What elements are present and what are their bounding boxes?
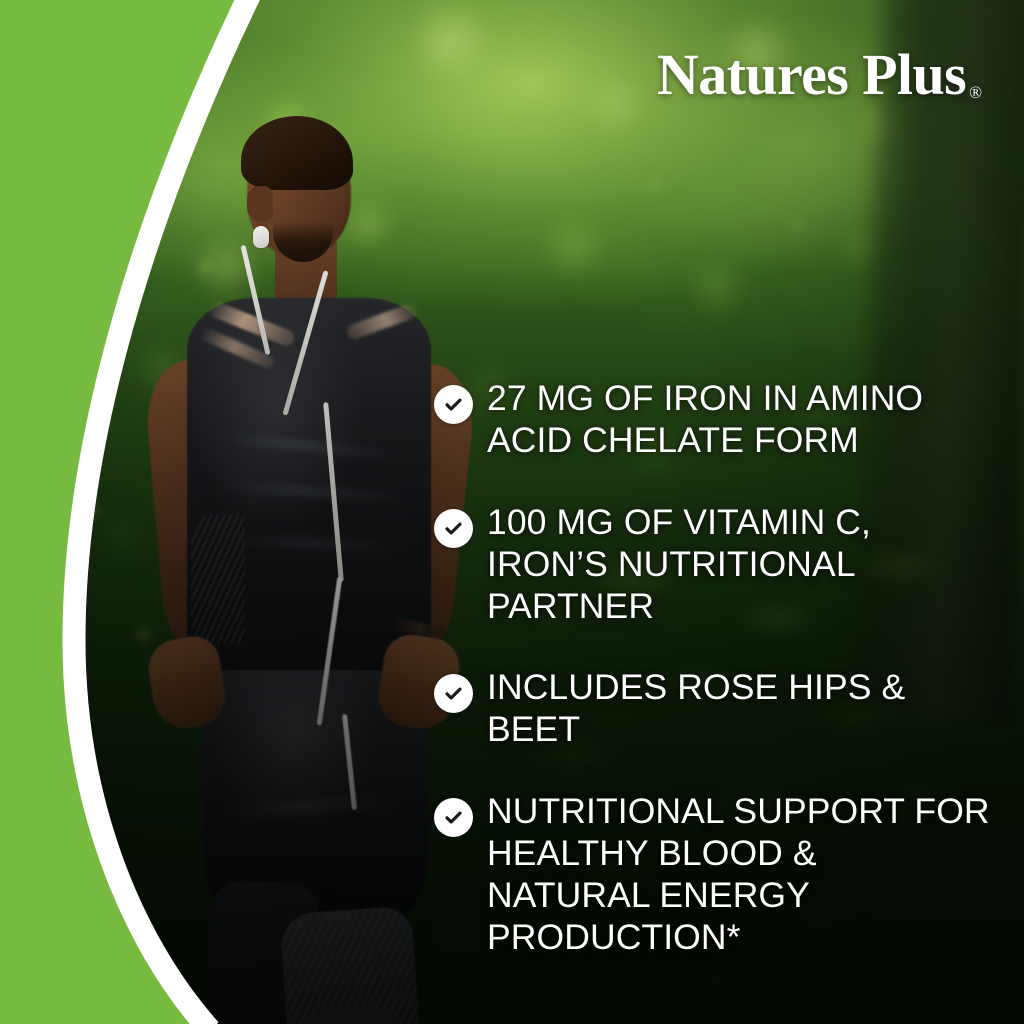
benefit-item: 27 MG OF IRON IN AMINO ACID CHELATE FORM bbox=[434, 378, 1002, 462]
brand-logo-text: Natures Plus bbox=[657, 46, 966, 104]
benefit-item: INCLUDES ROSE HIPS & BEET bbox=[434, 667, 1002, 751]
check-circle-icon bbox=[434, 674, 473, 713]
benefit-text: 100 MG OF VITAMIN C, IRON’S NUTRITIONAL … bbox=[487, 502, 871, 628]
benefit-text: NUTRITIONAL SUPPORT FOR HEALTHY BLOOD & … bbox=[487, 791, 990, 959]
product-marketing-banner: Natures Plus ® 27 MG OF IRON IN AMINO AC… bbox=[0, 0, 1024, 1024]
check-circle-icon bbox=[434, 509, 473, 548]
benefits-list: 27 MG OF IRON IN AMINO ACID CHELATE FORM… bbox=[434, 378, 1002, 959]
brand-logo: Natures Plus ® bbox=[657, 46, 982, 104]
check-circle-icon bbox=[434, 385, 473, 424]
benefit-text: 27 MG OF IRON IN AMINO ACID CHELATE FORM bbox=[487, 378, 923, 462]
benefit-item: 100 MG OF VITAMIN C, IRON’S NUTRITIONAL … bbox=[434, 502, 1002, 628]
check-circle-icon bbox=[434, 798, 473, 837]
benefit-item: NUTRITIONAL SUPPORT FOR HEALTHY BLOOD & … bbox=[434, 791, 1002, 959]
registered-trademark-icon: ® bbox=[969, 84, 982, 101]
benefit-text: INCLUDES ROSE HIPS & BEET bbox=[487, 667, 1002, 751]
